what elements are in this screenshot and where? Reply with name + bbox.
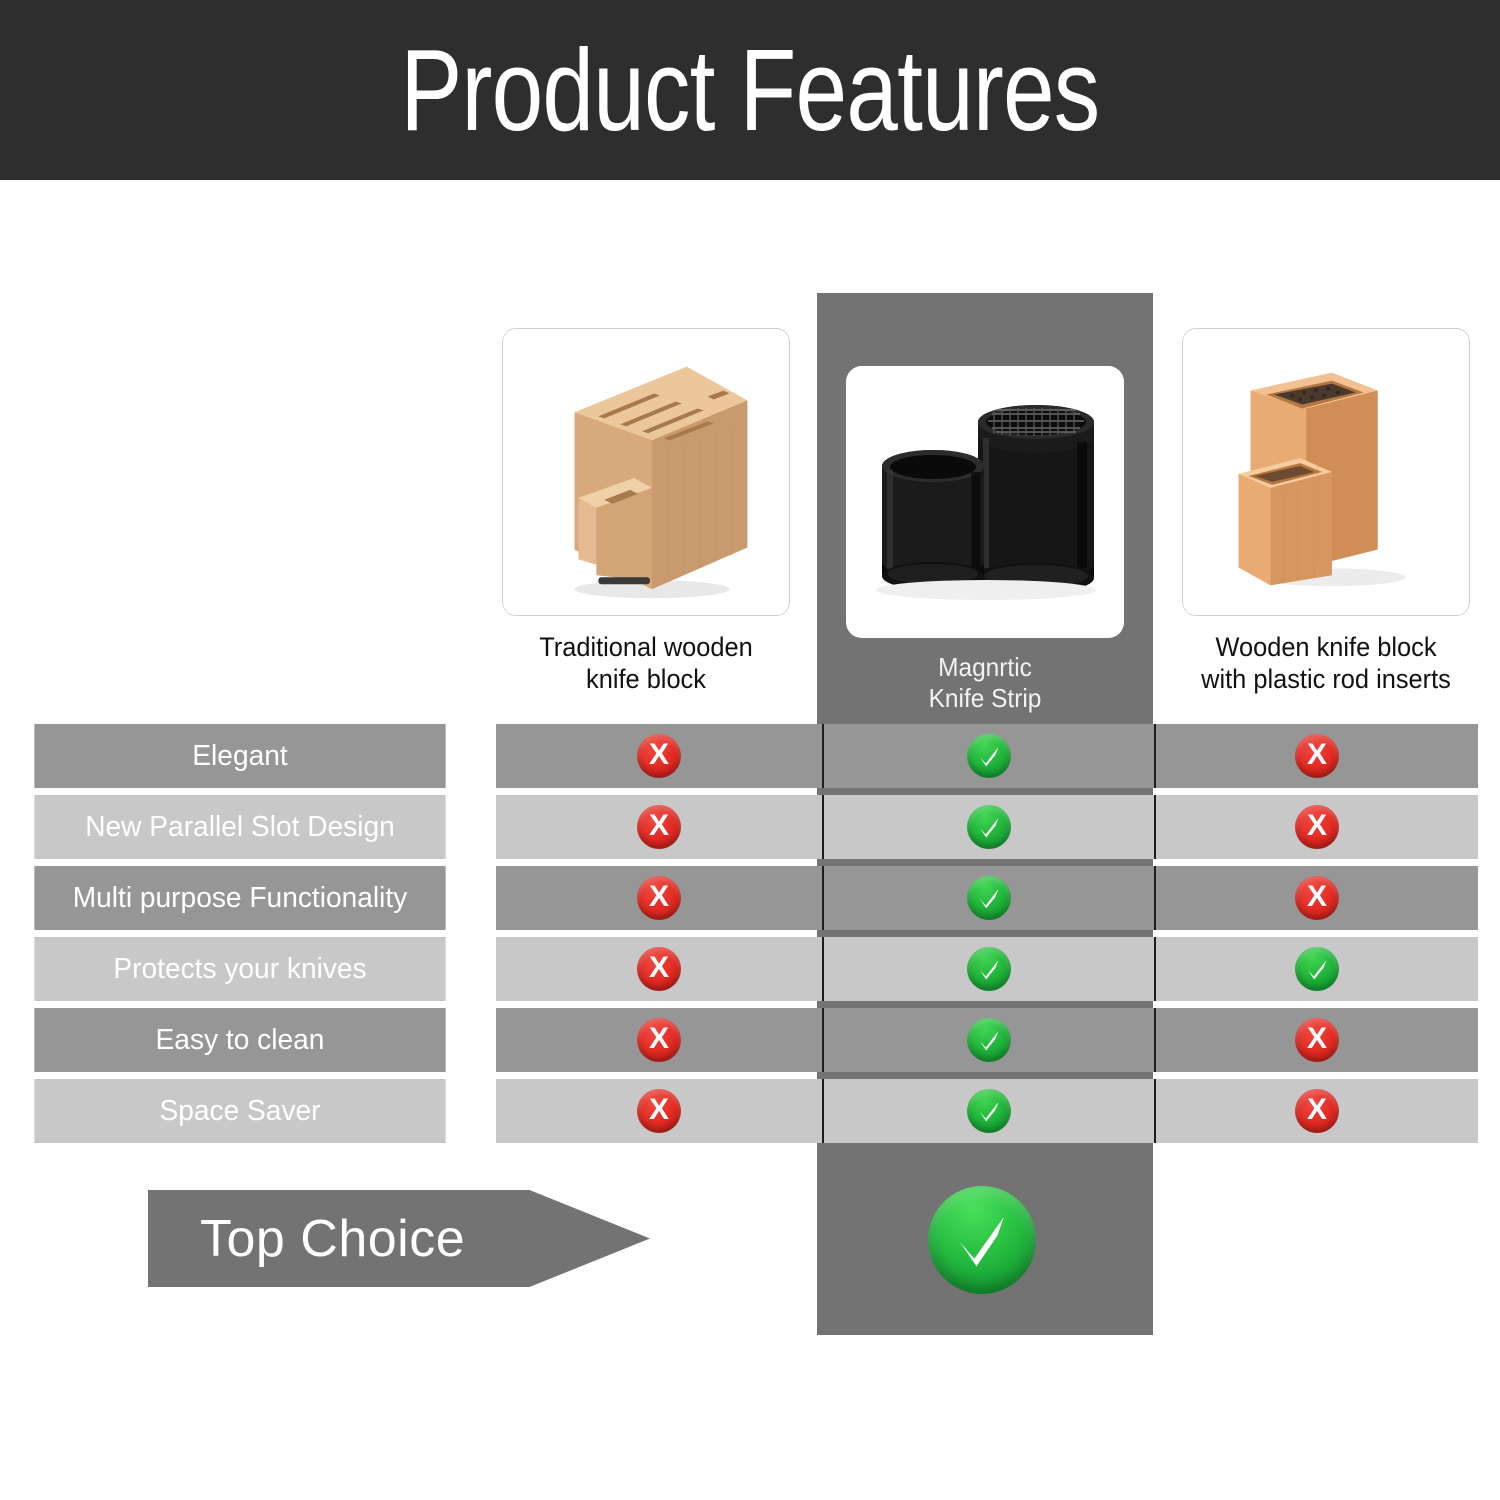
product-image-card-1 xyxy=(502,328,790,616)
cell-easy-clean-magnetic xyxy=(822,1008,1156,1072)
feature-label-slot-design: New Parallel Slot Design xyxy=(34,795,445,859)
check-icon xyxy=(967,947,1011,991)
cross-icon: X xyxy=(637,805,681,849)
check-icon xyxy=(967,805,1011,849)
feature-label-multi-purpose: Multi purpose Functionality xyxy=(34,866,445,930)
table-row: X X xyxy=(496,866,1478,930)
table-row: X xyxy=(496,937,1478,1001)
product-label-1: Traditional wooden knife block xyxy=(511,632,782,696)
table-row: X X xyxy=(496,724,1478,788)
feature-label-protects: Protects your knives xyxy=(34,937,445,1001)
magnetic-knife-strip-photo xyxy=(846,366,1124,638)
table-row: X X xyxy=(496,1079,1478,1143)
product-comparison-page: Product Features xyxy=(0,0,1500,1500)
wooden-knife-block-plastic-rods-photo xyxy=(1183,329,1469,615)
cell-multi-purpose-magnetic xyxy=(822,866,1156,930)
feature-label-elegant: Elegant xyxy=(34,724,445,788)
table-row: X X xyxy=(496,1008,1478,1072)
feature-label-column: Elegant New Parallel Slot Design Multi p… xyxy=(28,724,452,1150)
cross-icon: X xyxy=(637,1018,681,1062)
cell-slot-design-magnetic xyxy=(822,795,1156,859)
cross-icon: X xyxy=(637,947,681,991)
cell-easy-clean-plastic-rods: X xyxy=(1156,1008,1478,1072)
comparison-marks-grid: X X X X xyxy=(496,724,1478,1150)
check-icon xyxy=(1295,947,1339,991)
cross-icon: X xyxy=(1295,1089,1339,1133)
header-banner: Product Features xyxy=(0,0,1500,180)
cell-elegant-magnetic xyxy=(822,724,1156,788)
cell-space-saver-magnetic xyxy=(822,1079,1156,1143)
cell-elegant-plastic-rods: X xyxy=(1156,724,1478,788)
check-icon xyxy=(967,1089,1011,1133)
cell-protects-plastic-rods xyxy=(1156,937,1478,1001)
top-choice-label: Top Choice xyxy=(148,1209,465,1269)
cross-icon: X xyxy=(1295,1018,1339,1062)
top-choice-banner: Top Choice xyxy=(148,1190,650,1287)
cell-protects-magnetic xyxy=(822,937,1156,1001)
cell-space-saver-traditional: X xyxy=(496,1079,822,1143)
table-row: X X xyxy=(496,795,1478,859)
product-image-card-3 xyxy=(1182,328,1470,616)
cross-icon: X xyxy=(1295,734,1339,778)
feature-label-space-saver: Space Saver xyxy=(34,1079,445,1143)
cell-easy-clean-traditional: X xyxy=(496,1008,822,1072)
cell-protects-traditional: X xyxy=(496,937,822,1001)
check-icon xyxy=(967,876,1011,920)
page-title: Product Features xyxy=(400,32,1099,148)
product-label-3: Wooden knife block with plastic rod inse… xyxy=(1191,632,1462,696)
cross-icon: X xyxy=(1295,876,1339,920)
cell-slot-design-traditional: X xyxy=(496,795,822,859)
check-icon xyxy=(967,734,1011,778)
traditional-wooden-knife-block-photo xyxy=(503,329,789,615)
check-icon xyxy=(967,1018,1011,1062)
cross-icon: X xyxy=(637,734,681,778)
cell-space-saver-plastic-rods: X xyxy=(1156,1079,1478,1143)
cell-multi-purpose-traditional: X xyxy=(496,866,822,930)
cross-icon: X xyxy=(637,876,681,920)
cell-slot-design-plastic-rods: X xyxy=(1156,795,1478,859)
product-column-wooden-plastic-rods[interactable]: Wooden knife block with plastic rod inse… xyxy=(1182,328,1470,696)
product-image-card-2 xyxy=(846,366,1124,638)
product-column-traditional-wooden[interactable]: Traditional wooden knife block xyxy=(502,328,790,696)
product-label-2: Magnrtic Knife Strip xyxy=(854,652,1115,713)
product-column-magnetic-knife-strip[interactable]: Magnrtic Knife Strip xyxy=(846,366,1124,713)
cross-icon: X xyxy=(637,1089,681,1133)
winner-check-icon xyxy=(928,1186,1036,1294)
cell-multi-purpose-plastic-rods: X xyxy=(1156,866,1478,930)
feature-label-easy-to-clean: Easy to clean xyxy=(34,1008,445,1072)
cross-icon: X xyxy=(1295,805,1339,849)
cell-elegant-traditional: X xyxy=(496,724,822,788)
